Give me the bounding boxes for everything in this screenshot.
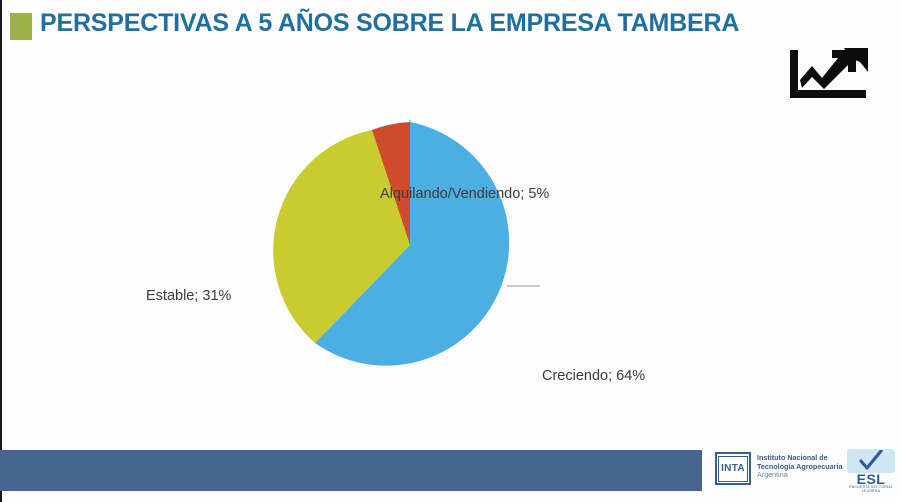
footer-band	[0, 450, 702, 491]
pie-label-creciendo: Creciendo; 64%	[542, 368, 645, 384]
esl-logo: ESL ENCUESTA SECTORIAL LECHERA	[847, 449, 895, 493]
checkmark-icon	[859, 450, 883, 472]
esl-subtitle: ENCUESTA SECTORIAL LECHERA	[847, 485, 895, 494]
title-accent-marker	[10, 13, 32, 40]
footer-logos: INTA Instituto Nacional de Tecnología Ag…	[702, 447, 901, 497]
slide-canvas: PERSPECTIVAS A 5 AÑOS SOBRE LA EMPRESA T…	[0, 0, 901, 502]
slide-title-bar: PERSPECTIVAS A 5 AÑOS SOBRE LA EMPRESA T…	[0, 4, 901, 48]
inta-institution-name: Instituto Nacional de Tecnología Agropec…	[757, 454, 842, 480]
line-chart-up-arrow-icon	[782, 44, 874, 108]
slide-left-edge	[0, 0, 2, 502]
pie-label-estable: Estable; 31%	[146, 288, 231, 304]
pie-label-alquilando: Alquilando/Vendiendo; 5%	[380, 186, 549, 202]
pie-chart: Alquilando/Vendiendo; 5% Estable; 31% Cr…	[110, 90, 790, 400]
pie-chart-svg	[110, 90, 790, 400]
inta-name-line3: Argentina	[757, 471, 842, 480]
inta-logo-icon: INTA	[715, 452, 751, 485]
page-title: PERSPECTIVAS A 5 AÑOS SOBRE LA EMPRESA T…	[40, 9, 739, 38]
inta-logo-text: INTA	[718, 456, 748, 482]
